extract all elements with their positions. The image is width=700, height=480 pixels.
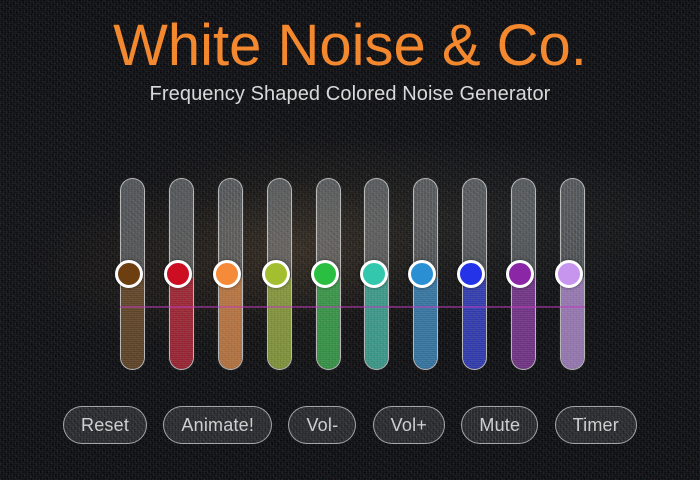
- slider-fill: [219, 278, 242, 369]
- slider-fill-noise: [121, 278, 144, 369]
- button-label: Vol-: [306, 415, 338, 436]
- slider-fill-noise: [463, 278, 486, 369]
- slider-fill: [512, 278, 535, 369]
- slider-connector-line: [120, 306, 585, 308]
- slider-fill: [463, 278, 486, 369]
- slider-fill: [268, 278, 291, 369]
- animate-button[interactable]: Animate!: [163, 406, 272, 444]
- slider-fill: [170, 278, 193, 369]
- button-label: Vol+: [391, 415, 427, 436]
- app-root: White Noise & Co. Frequency Shaped Color…: [0, 0, 700, 480]
- reset-button[interactable]: Reset: [63, 406, 147, 444]
- slider-fill: [561, 278, 584, 369]
- slider-thumb-band-5[interactable]: [311, 260, 339, 288]
- slider-fill: [414, 278, 437, 369]
- slider-fill: [121, 278, 144, 369]
- slider-fill-noise: [512, 278, 535, 369]
- slider-fill-noise: [317, 278, 340, 369]
- button-label: Animate!: [181, 415, 254, 436]
- button-row: ResetAnimate!Vol-Vol+MuteTimer: [63, 406, 637, 444]
- button-label: Reset: [81, 415, 129, 436]
- slider-fill: [365, 278, 388, 369]
- header: White Noise & Co. Frequency Shaped Color…: [0, 0, 700, 106]
- slider-thumb-band-6[interactable]: [360, 260, 388, 288]
- button-label: Timer: [573, 415, 619, 436]
- slider-fill-noise: [561, 278, 584, 369]
- mute-button[interactable]: Mute: [461, 406, 538, 444]
- slider-thumb-band-4[interactable]: [262, 260, 290, 288]
- slider-fill-noise: [414, 278, 437, 369]
- timer-button[interactable]: Timer: [555, 406, 637, 444]
- slider-fill-noise: [219, 278, 242, 369]
- button-label: Mute: [479, 415, 520, 436]
- slider-thumb-band-3[interactable]: [213, 260, 241, 288]
- page-subtitle: Frequency Shaped Colored Noise Generator: [0, 83, 700, 106]
- vol-down-button[interactable]: Vol-: [288, 406, 356, 444]
- slider-fill-noise: [365, 278, 388, 369]
- vol-up-button[interactable]: Vol+: [373, 406, 445, 444]
- slider-fill-noise: [268, 278, 291, 369]
- slider-fill-noise: [170, 278, 193, 369]
- page-title: White Noise & Co.: [0, 16, 700, 76]
- slider-fill: [317, 278, 340, 369]
